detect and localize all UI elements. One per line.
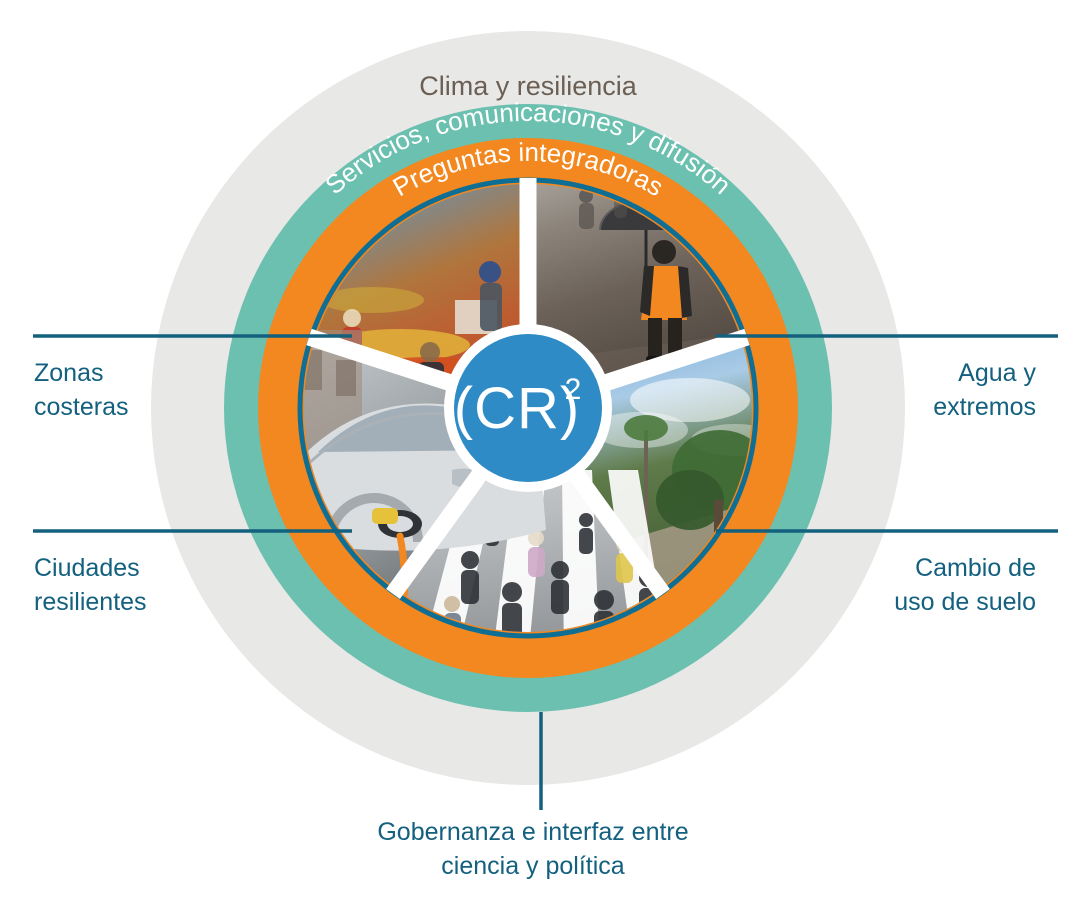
outer-ring-title: Clima y resiliencia [419,71,638,101]
spoke-label-cambio-uso-suelo-line2[interactable]: uso de suelo [894,588,1036,616]
center-logo-superscript: 2 [565,373,582,406]
spoke-label-zonas-costeras-line1[interactable]: Zonas [34,359,103,387]
cr2-research-wheel-diagram: (CR) 2 Servicios, comunicaciones y difus… [0,0,1087,904]
spoke-label-cambio-uso-suelo-line1[interactable]: Cambio de [915,554,1036,582]
diagram-canvas: (CR) 2 Servicios, comunicaciones y difus… [0,0,1087,904]
center-logo-text: (CR) [454,376,580,441]
spoke-label-zonas-costeras-line2[interactable]: costeras [34,393,128,421]
spoke-label-ciudades-resilientes-line1[interactable]: Ciudades [34,554,140,582]
spoke-label-agua-extremos-line2[interactable]: extremos [933,393,1036,421]
spoke-label-ciudades-resilientes-line2[interactable]: resilientes [34,588,147,616]
spoke-label-agua-extremos-line1[interactable]: Agua y [958,359,1036,387]
spoke-label-gobernanza-line2[interactable]: ciencia y política [441,852,625,880]
spoke-label-gobernanza-line1[interactable]: Gobernanza e interfaz entre [377,818,688,846]
